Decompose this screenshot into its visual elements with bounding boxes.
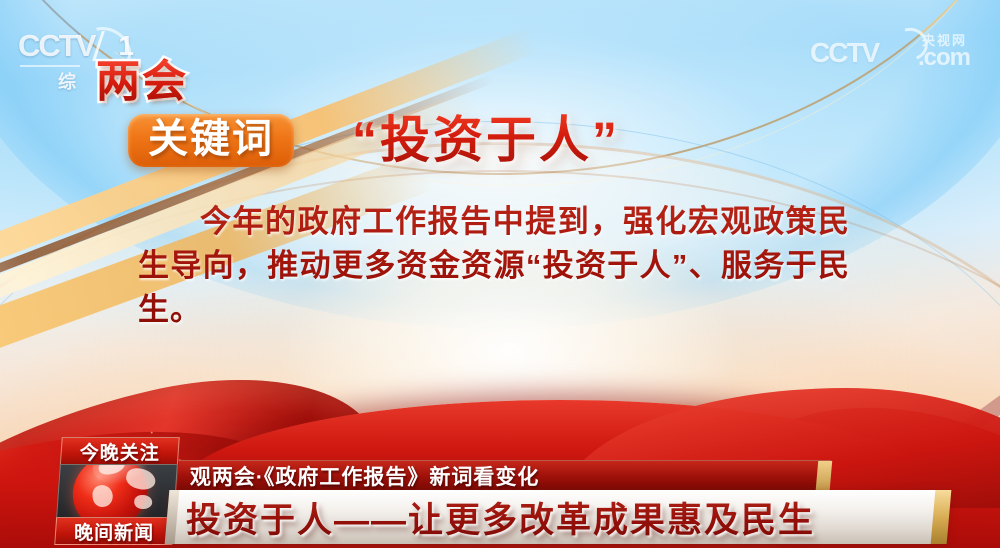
broadcast-screen: CCTV 1 综 CCTV 央视网 .com 两会 两会 关键词 “投资于人” …	[0, 0, 1000, 548]
headline-text: 投资于人——让更多改革成果惠及民生	[186, 492, 815, 543]
globe-graphic	[56, 464, 178, 518]
news-program-badge: 今晚关注 晚间新闻	[54, 437, 180, 545]
section-badge: 关键词	[128, 114, 294, 167]
channel-label: 综	[58, 68, 76, 94]
badge-top-bar: 今晚关注	[60, 437, 180, 465]
badge-top-label: 今晚关注	[80, 438, 160, 465]
globe-landmass	[92, 484, 114, 509]
cctv-com-watermark: CCTV 央视网 .com	[810, 30, 986, 74]
subtitle-band-end-cap	[816, 461, 833, 490]
subtitle-band: 观两会·《政府工作报告》新词看变化	[177, 460, 832, 490]
globe-icon	[70, 464, 149, 518]
watermark-wordmark: CCTV	[810, 39, 878, 67]
logo-underline	[20, 65, 80, 67]
page-title: “投资于人”	[352, 112, 620, 170]
section-badge-label: 关键词	[148, 119, 274, 159]
badge-bottom-bar: 晚间新闻	[54, 517, 174, 545]
headline-band-end-cap	[931, 490, 952, 544]
headline-band: 投资于人——让更多改革成果惠及民生	[166, 490, 951, 544]
program-tag: 两会 两会	[96, 60, 188, 104]
article-body: 今年的政府工作报告中提到，强化宏观政策民生导向，推动更多资金资源“投资于人”、服…	[138, 200, 850, 332]
program-tag-fill: 两会	[96, 60, 188, 104]
badge-bottom-label: 晚间新闻	[74, 518, 154, 545]
lower-third: 今晚关注 晚间新闻 观两会·《政府工作报告》新词看变化 投资于人——让更	[0, 430, 1000, 548]
watermark-domain: .com	[918, 46, 970, 70]
subtitle-text: 观两会·《政府工作报告》新词看变化	[190, 461, 540, 491]
globe-landmass	[134, 495, 153, 509]
